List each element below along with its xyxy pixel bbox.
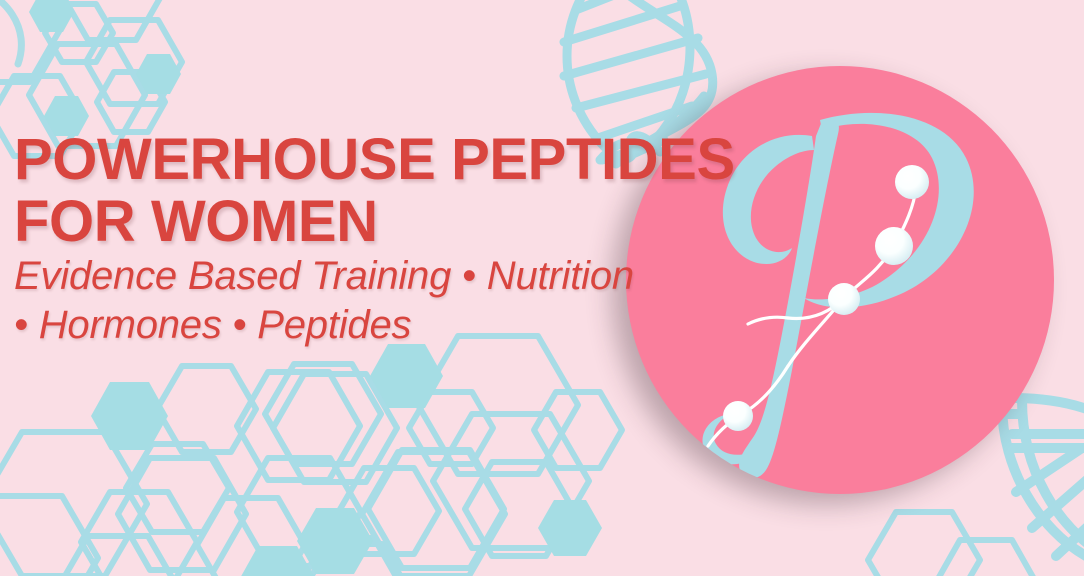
subhead-line-1: Evidence Based Training • Nutrition bbox=[14, 255, 714, 297]
banner-text-block: POWERHOUSE PEPTIDES FOR WOMEN Evidence B… bbox=[14, 132, 714, 346]
peptide-chain-nodes bbox=[723, 165, 929, 431]
hexagon-pattern-main bbox=[0, 336, 622, 576]
hexagon-pattern-solid bbox=[0, 344, 602, 576]
hexagon-solid-top-left bbox=[29, 0, 181, 136]
peptide-node bbox=[723, 401, 753, 431]
headline-line-1: POWERHOUSE PEPTIDES bbox=[14, 132, 714, 188]
peptide-node bbox=[895, 165, 929, 199]
hexagon-cluster-right bbox=[868, 512, 1038, 576]
peptide-node bbox=[828, 283, 860, 315]
headline-line-2: FOR WOMEN bbox=[14, 194, 714, 250]
promo-banner: POWERHOUSE PEPTIDES FOR WOMEN Evidence B… bbox=[0, 0, 1084, 576]
peptide-node bbox=[875, 227, 913, 265]
dna-helix-top-left bbox=[0, 0, 21, 64]
subhead-line-2: • Hormones • Peptides bbox=[14, 304, 714, 346]
